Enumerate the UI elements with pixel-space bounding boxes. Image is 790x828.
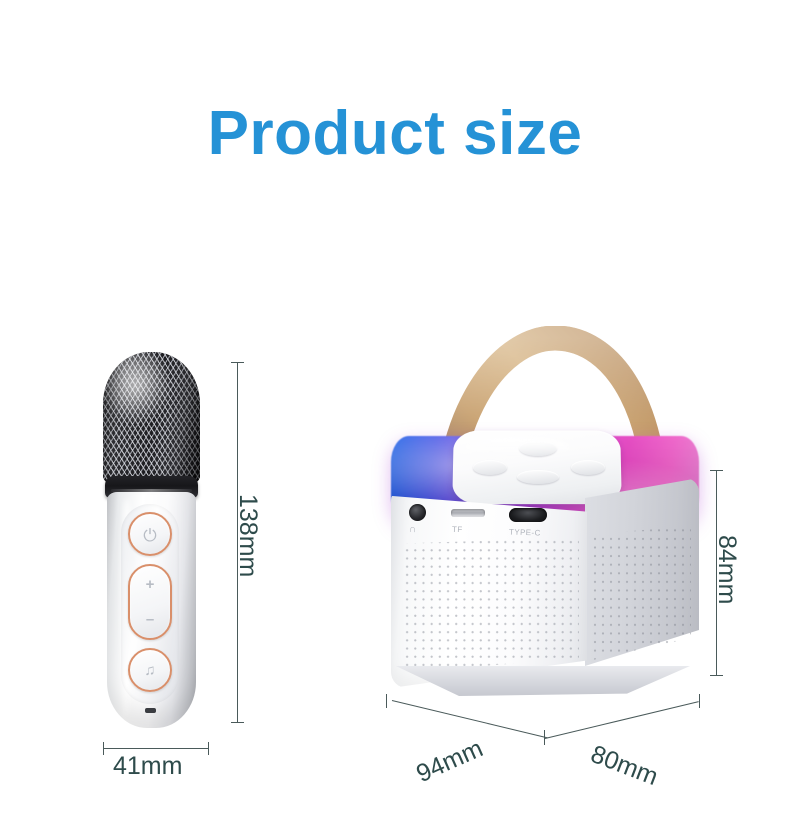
microphone-volume-rocker[interactable]: + – bbox=[128, 564, 172, 640]
usb-c-port[interactable] bbox=[509, 508, 547, 522]
microphone-effects-button[interactable]: ♫ bbox=[128, 648, 172, 692]
speaker-top-control-plate[interactable] bbox=[452, 431, 622, 505]
volume-down-icon: – bbox=[146, 612, 154, 627]
dimension-cap-center-vertex bbox=[544, 730, 545, 745]
speaker-grille-front bbox=[403, 538, 579, 672]
dimension-label-speaker-depth: 94mm bbox=[412, 734, 487, 789]
product-size-figure: Product size ⏻ + – ♫ bbox=[0, 0, 790, 828]
speaker-body: ∩ TF TYPE-C bbox=[385, 430, 705, 730]
dimension-cap-bottom bbox=[231, 722, 244, 723]
power-icon: ⏻ bbox=[143, 527, 156, 544]
volume-up-icon: + bbox=[146, 577, 155, 592]
speaker-product-image: ∩ TF TYPE-C bbox=[385, 318, 705, 738]
dimension-cap-left-depth bbox=[386, 694, 387, 708]
next-button[interactable] bbox=[571, 460, 605, 475]
dimension-label-speaker-height: 84mm bbox=[712, 535, 741, 604]
speaker-bottom-edge bbox=[393, 666, 693, 696]
page-title: Product size bbox=[0, 103, 790, 165]
microphone-power-button[interactable]: ⏻ bbox=[128, 512, 172, 556]
microphone-led-indicator bbox=[145, 708, 156, 713]
music-note-icon: ♫ bbox=[144, 663, 155, 678]
tf-port-label: TF bbox=[452, 525, 463, 534]
speaker-grille-side bbox=[591, 526, 691, 666]
play-pause-button[interactable] bbox=[519, 440, 557, 456]
dimension-label-speaker-width: 80mm bbox=[587, 740, 662, 792]
headphone-jack-port[interactable] bbox=[409, 504, 426, 521]
usb-c-port-label: TYPE-C bbox=[509, 527, 541, 537]
tf-card-slot[interactable] bbox=[451, 509, 485, 517]
dimension-cap-top bbox=[231, 362, 244, 363]
mode-button[interactable] bbox=[517, 470, 559, 484]
previous-button[interactable] bbox=[473, 460, 507, 475]
dimension-cap-right-width bbox=[699, 694, 700, 708]
dimension-cap-bottom bbox=[710, 675, 723, 676]
dimension-label-mic-width: 41mm bbox=[113, 752, 182, 781]
microphone-mesh-head bbox=[103, 352, 200, 484]
headphone-icon: ∩ bbox=[409, 524, 417, 535]
dimension-cap-left bbox=[103, 742, 104, 755]
dimension-label-mic-height: 138mm bbox=[233, 494, 262, 577]
dimension-cap-right bbox=[208, 742, 209, 755]
dimension-cap-top bbox=[710, 470, 723, 471]
dimension-line-mic-width bbox=[103, 748, 208, 749]
speaker-port-row: ∩ TF TYPE-C bbox=[405, 502, 585, 542]
microphone-product-image: ⏻ + – ♫ bbox=[95, 352, 220, 732]
